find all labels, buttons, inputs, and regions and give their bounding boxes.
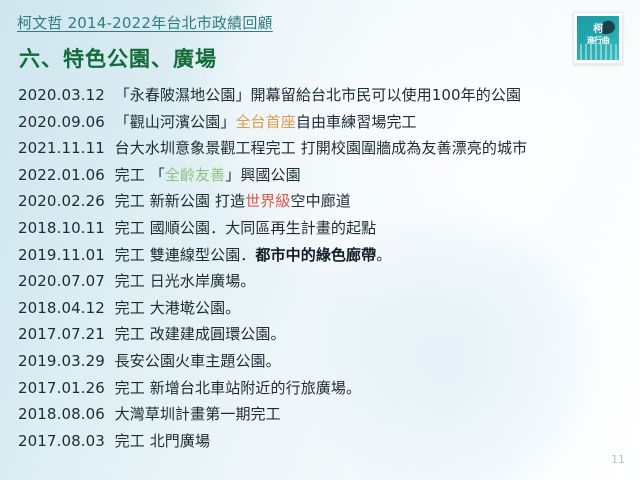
achievement-date: 2019.11.01 bbox=[18, 246, 105, 264]
achievement-row: 2020.07.07 完工 日光水岸廣場。 bbox=[18, 268, 618, 295]
slide-header-title: 柯文哲 2014-2022年台北市政績回顧 bbox=[17, 12, 273, 33]
achievement-spacer bbox=[105, 246, 115, 264]
achievement-text-plain: 。 bbox=[376, 246, 391, 264]
achievement-spacer bbox=[105, 86, 115, 104]
achievement-date: 2020.07.07 bbox=[18, 272, 105, 290]
achievement-spacer bbox=[105, 379, 115, 397]
achievement-row: 2020.02.26 完工 新新公園 打造世界級空中廊道 bbox=[18, 188, 618, 215]
achievement-row: 2017.01.26 完工 新增台北車站附近的行旅廣場。 bbox=[18, 375, 618, 402]
achievement-row: 2019.11.01 完工 雙連線型公園．都市中的綠色廊帶。 bbox=[18, 242, 618, 269]
achievement-text-plain: 」興國公園 bbox=[225, 166, 301, 184]
achievement-text-plain: 完工 改建建成圓環公園。 bbox=[115, 325, 286, 343]
achievement-text-plain: 完工 北門廣場 bbox=[115, 432, 210, 450]
achievement-text-plain: 完工 大港墘公園。 bbox=[115, 299, 241, 317]
page-number: 11 bbox=[611, 453, 625, 466]
achievement-date: 2017.08.03 bbox=[18, 432, 105, 450]
achievement-spacer bbox=[105, 405, 115, 423]
logo-wave-icon bbox=[577, 44, 619, 60]
achievement-row: 2018.08.06 大灣草圳計畫第一期完工 bbox=[18, 401, 618, 428]
achievement-row: 2021.11.11 台大水圳意象景觀工程完工 打開校園圍牆成為友善漂亮的城市 bbox=[18, 135, 618, 162]
achievement-spacer bbox=[105, 352, 115, 370]
achievement-spacer bbox=[105, 139, 115, 157]
achievement-date: 2020.03.12 bbox=[18, 86, 105, 104]
achievement-date: 2018.08.06 bbox=[18, 405, 105, 423]
achievement-text-bold: 都市中的綠色廊帶 bbox=[255, 246, 376, 264]
achievement-text-orange: 全台首座 bbox=[235, 113, 295, 131]
ko-p-logo-badge: 柯 進行曲 bbox=[573, 12, 623, 64]
achievement-text-plain: 完工 「 bbox=[115, 166, 165, 184]
achievement-text-plain: 完工 國順公園．大同區再生計畫的起點 bbox=[115, 219, 377, 237]
achievement-spacer bbox=[105, 192, 115, 210]
achievement-row: 2018.04.12 完工 大港墘公園。 bbox=[18, 295, 618, 322]
achievement-text-plain: 完工 新增台北車站附近的行旅廣場。 bbox=[115, 379, 361, 397]
achievement-row: 2018.10.11 完工 國順公園．大同區再生計畫的起點 bbox=[18, 215, 618, 242]
achievement-row: 2019.03.29 長安公園火車主題公園。 bbox=[18, 348, 618, 375]
achievement-date: 2022.01.06 bbox=[18, 166, 105, 184]
achievement-spacer bbox=[105, 432, 115, 450]
achievement-spacer bbox=[105, 219, 115, 237]
achievement-spacer bbox=[105, 113, 115, 131]
achievement-text-plain: 大灣草圳計畫第一期完工 bbox=[115, 405, 281, 423]
achievement-spacer bbox=[105, 299, 115, 317]
achievement-text-plain: 長安公園火車主題公園。 bbox=[115, 352, 281, 370]
achievement-text-plain: 完工 新新公園 打造 bbox=[115, 192, 246, 210]
achievement-spacer bbox=[105, 166, 115, 184]
achievement-row: 2020.03.12 「永春陂濕地公園」開幕留給台北市民可以使用100年的公園 bbox=[18, 82, 618, 109]
achievement-spacer bbox=[105, 272, 115, 290]
achievement-date: 2020.09.06 bbox=[18, 113, 105, 131]
achievement-text-green: 全齡友善 bbox=[165, 166, 225, 184]
achievement-text-plain: 自由車練習場完工 bbox=[296, 113, 417, 131]
achievement-date: 2017.01.26 bbox=[18, 379, 105, 397]
achievement-text-plain: 空中廊道 bbox=[291, 192, 351, 210]
presentation-slide: 柯文哲 2014-2022年台北市政績回顧 六、特色公園、廣場 2020.03.… bbox=[0, 0, 640, 480]
achievement-row: 2017.07.21 完工 改建建成圓環公園。 bbox=[18, 321, 618, 348]
achievement-row: 2017.08.03 完工 北門廣場 bbox=[18, 428, 618, 455]
achievement-date: 2018.04.12 bbox=[18, 299, 105, 317]
achievement-date: 2020.02.26 bbox=[18, 192, 105, 210]
achievement-row: 2022.01.06 完工 「全齡友善」興國公園 bbox=[18, 162, 618, 189]
achievement-text-red: 世界級 bbox=[245, 192, 290, 210]
achievement-date: 2018.10.11 bbox=[18, 219, 105, 237]
achievement-text-plain: 完工 日光水岸廣場。 bbox=[115, 272, 256, 290]
achievement-row: 2020.09.06 「觀山河濱公園」全台首座自由車練習場完工 bbox=[18, 109, 618, 136]
achievement-text-plain: 「永春陂濕地公園」開幕留給台北市民可以使用100年的公園 bbox=[115, 86, 521, 104]
achievement-date: 2019.03.29 bbox=[18, 352, 105, 370]
section-heading: 六、特色公園、廣場 bbox=[19, 43, 217, 73]
achievement-text-plain: 完工 雙連線型公園． bbox=[115, 246, 256, 264]
logo-inner: 柯 進行曲 bbox=[577, 16, 619, 60]
achievement-date: 2017.07.21 bbox=[18, 325, 105, 343]
achievement-date: 2021.11.11 bbox=[18, 139, 105, 157]
achievement-text-plain: 台大水圳意象景觀工程完工 打開校園圍牆成為友善漂亮的城市 bbox=[115, 139, 528, 157]
achievement-text-plain: 「觀山河濱公園」 bbox=[115, 113, 236, 131]
achievement-spacer bbox=[105, 325, 115, 343]
logo-mark-text: 柯 bbox=[577, 25, 619, 35]
achievement-list: 2020.03.12 「永春陂濕地公園」開幕留給台北市民可以使用100年的公園2… bbox=[18, 82, 618, 454]
